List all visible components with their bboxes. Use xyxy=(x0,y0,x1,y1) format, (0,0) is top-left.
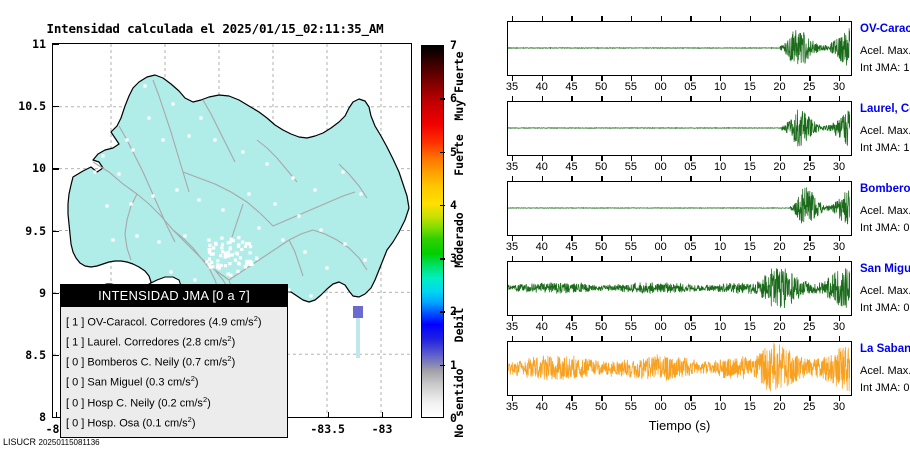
legend-station-row: [ 0 ] Hosp C. Neily (0.2 cm/s2) xyxy=(66,392,287,412)
map-y-tick-label: 10 xyxy=(2,161,46,175)
trace-tick-label: 20 xyxy=(769,81,791,93)
trace-tick-label: 00 xyxy=(650,321,672,333)
map-x-tick-mark xyxy=(328,412,329,418)
trace-station-name: La Sabana xyxy=(860,343,910,355)
trace-tick-label: 15 xyxy=(739,161,761,173)
trace-jma-intensity: Int JMA: 1 xyxy=(860,62,910,74)
map-x-tick-mark xyxy=(56,412,57,418)
colorbar-category-label: Moderado xyxy=(452,212,466,267)
page-title: Intensidad calculada el 2025/01/15_02:11… xyxy=(0,21,430,36)
colorbar-tick-mark xyxy=(440,205,445,206)
trace-tick-label: 40 xyxy=(531,321,553,333)
trace-tick-label: 40 xyxy=(531,401,553,413)
trace-jma-intensity: Int JMA: 0 xyxy=(860,222,910,234)
trace-station-name: San Miguel xyxy=(860,263,910,275)
trace-tick-label: 35 xyxy=(501,161,523,173)
footer-timestamp: 20250115081136 xyxy=(39,438,100,447)
waveform-graphic xyxy=(508,102,850,154)
trace-tick-label-row: 354045505500051015202530 xyxy=(507,241,852,254)
seismogram-trace-block: 354045505500051015202530Laurel, Corredor… xyxy=(470,101,910,179)
trace-tick-label: 45 xyxy=(560,241,582,253)
legend-paren-close: ) xyxy=(258,317,262,329)
trace-tick-label: 25 xyxy=(798,161,820,173)
trace-tick-label: 25 xyxy=(798,241,820,253)
trace-tick-label: 00 xyxy=(650,161,672,173)
waveform-graphic xyxy=(508,182,850,234)
trace-tick-label: 20 xyxy=(769,241,791,253)
legend-intensity-bracket: [ 1 ] xyxy=(66,337,87,349)
seismogram-plot-frame xyxy=(507,261,852,316)
trace-tick-label: 20 xyxy=(769,161,791,173)
seismogram-panel: Tiempo (s) 354045505500051015202530OV-Ca… xyxy=(470,0,910,460)
legend-paren-close: ) xyxy=(207,397,211,409)
trace-tick-label: 40 xyxy=(531,241,553,253)
map-x-tick-mark xyxy=(382,412,383,418)
trace-tick-label: 55 xyxy=(620,321,642,333)
colorbar-category-label: Muy Fuerte xyxy=(452,51,466,120)
map-y-tick-label: 11 xyxy=(2,37,46,51)
map-y-tick-label: 9 xyxy=(2,286,46,300)
trace-tick-label: 10 xyxy=(709,241,731,253)
waveform-graphic xyxy=(508,342,850,394)
trace-tick-label: 45 xyxy=(560,321,582,333)
time-axis-label: Tiempo (s) xyxy=(507,418,852,433)
trace-tick-label: 35 xyxy=(501,81,523,93)
seismogram-trace-block: 354045505500051015202530Bomberos C. Neil… xyxy=(470,181,910,259)
waveform-graphic xyxy=(508,22,850,74)
legend-station-name: Hosp C. Neily (0.2 cm/s xyxy=(87,397,203,409)
colorbar-tick-label: 4 xyxy=(450,198,466,212)
trace-peak-acceleration: Acel. Max. 0.9 xyxy=(860,125,910,137)
trace-tick-label-row: 354045505500051015202530 xyxy=(507,161,852,174)
colorbar-tick-mark xyxy=(440,311,445,312)
colorbar-category-label: No sentido xyxy=(452,368,466,437)
seismogram-plot-frame xyxy=(507,101,852,156)
map-y-tick-mark xyxy=(53,106,59,107)
legend-intensity-bracket: [ 0 ] xyxy=(66,417,87,429)
trace-tick-label: 25 xyxy=(798,81,820,93)
colorbar-tick-mark xyxy=(440,258,445,259)
trace-tick-label: 10 xyxy=(709,321,731,333)
colorbar-category-label: Fuerte xyxy=(452,134,466,176)
colorbar-category-label: Debil xyxy=(452,308,466,343)
trace-jma-intensity: Int JMA: 1 xyxy=(860,142,910,154)
map-y-tick-mark xyxy=(53,355,59,356)
seismogram-trace-block: 354045505500051015202530OV-Caracol, Corr… xyxy=(470,21,910,99)
trace-tick-label: 20 xyxy=(769,321,791,333)
trace-peak-acceleration: Acel. Max. 0.9 xyxy=(860,45,910,57)
map-y-tick-mark xyxy=(53,231,59,232)
trace-tick-label: 55 xyxy=(620,241,642,253)
trace-peak-acceleration: Acel. Max. 0.0 xyxy=(860,365,910,377)
trace-tick-label: 05 xyxy=(679,241,701,253)
trace-tick-label: 35 xyxy=(501,321,523,333)
colorbar-gradient xyxy=(421,45,444,418)
legend-station-row: [ 0 ] Hosp. Osa (0.1 cm/s2) xyxy=(66,412,287,432)
seismogram-plot-frame xyxy=(507,341,852,396)
map-x-tick-label: -83 xyxy=(352,422,412,436)
trace-tick-label: 55 xyxy=(620,81,642,93)
colorbar-tick-mark xyxy=(440,365,445,366)
trace-tick-label: 10 xyxy=(709,401,731,413)
map-y-tick-mark xyxy=(53,168,59,169)
trace-peak-acceleration: Acel. Max. 0.0 xyxy=(860,285,910,297)
trace-tick-label: 10 xyxy=(709,81,731,93)
trace-tick-label: 30 xyxy=(828,161,850,173)
trace-tick-label: 05 xyxy=(679,401,701,413)
trace-tick-label: 55 xyxy=(620,161,642,173)
legend-paren-close: ) xyxy=(232,357,236,369)
trace-tick-label-row: 354045505500051015202530 xyxy=(507,401,852,414)
trace-tick-label: 45 xyxy=(560,81,582,93)
trace-tick-label: 00 xyxy=(650,401,672,413)
trace-tick-label: 05 xyxy=(679,321,701,333)
trace-tick-label: 15 xyxy=(739,241,761,253)
seismogram-plot-frame xyxy=(507,181,852,236)
map-y-tick-mark xyxy=(53,293,59,294)
trace-tick-label-row: 354045505500051015202530 xyxy=(507,321,852,334)
intensity-map-panel: Intensidad calculada el 2025/01/15_02:11… xyxy=(0,0,470,460)
legend-intensity-bracket: [ 1 ] xyxy=(66,317,87,329)
trace-tick-label: 00 xyxy=(650,81,672,93)
trace-tick-label: 35 xyxy=(501,401,523,413)
trace-tick-label: 55 xyxy=(620,401,642,413)
legend-station-row: [ 1 ] Laurel. Corredores (2.8 cm/s2) xyxy=(66,331,287,351)
intensity-legend: INTENSIDAD JMA [0 a 7] [ 1 ] OV-Caracol.… xyxy=(60,284,288,438)
trace-tick-label: 30 xyxy=(828,241,850,253)
map-y-tick-label: 8.5 xyxy=(2,348,46,362)
trace-tick-label: 50 xyxy=(590,401,612,413)
trace-tick-label: 15 xyxy=(739,401,761,413)
legend-station-name: Bomberos C. Neily (0.7 cm/s xyxy=(87,357,227,369)
trace-tick-label: 15 xyxy=(739,321,761,333)
legend-intensity-bracket: [ 0 ] xyxy=(66,397,87,409)
trace-tick-label: 50 xyxy=(590,321,612,333)
trace-jma-intensity: Int JMA: 0 xyxy=(860,302,910,314)
legend-paren-close: ) xyxy=(192,417,196,429)
trace-tick-label: 40 xyxy=(531,81,553,93)
trace-tick-label: 30 xyxy=(828,321,850,333)
legend-station-name: San Miguel (0.3 cm/s xyxy=(87,377,190,389)
trace-tick-label-row: 354045505500051015202530 xyxy=(507,81,852,94)
trace-tick-label: 25 xyxy=(798,401,820,413)
trace-station-name: Bomberos C. Neily xyxy=(860,183,910,195)
trace-tick-label: 00 xyxy=(650,241,672,253)
legend-intensity-bracket: [ 0 ] xyxy=(66,377,87,389)
map-y-tick-mark xyxy=(53,44,59,45)
trace-tick-label: 05 xyxy=(679,81,701,93)
legend-station-row: [ 0 ] Bomberos C. Neily (0.7 cm/s2) xyxy=(66,351,287,371)
seismogram-trace-block: 354045505500051015202530La SabanaAcel. M… xyxy=(470,341,910,419)
trace-tick-label: 20 xyxy=(769,401,791,413)
trace-tick-label: 50 xyxy=(590,161,612,173)
trace-tick-label: 50 xyxy=(590,81,612,93)
trace-tick-label: 50 xyxy=(590,241,612,253)
legend-intensity-bracket: [ 0 ] xyxy=(66,357,87,369)
trace-tick-label: 30 xyxy=(828,81,850,93)
trace-jma-intensity: Int JMA: 0 xyxy=(860,382,910,394)
colorbar-tick-label: 7 xyxy=(450,38,466,52)
map-intensity-patch xyxy=(353,306,363,358)
legend-station-row: [ 0 ] San Miguel (0.3 cm/s2) xyxy=(66,371,287,391)
trace-tick-label: 15 xyxy=(739,81,761,93)
seismogram-plot-frame xyxy=(507,21,852,76)
trace-peak-acceleration: Acel. Max. 0.0 xyxy=(860,205,910,217)
trace-tick-label: 10 xyxy=(709,161,731,173)
map-x-tick-label: -83.5 xyxy=(298,422,358,436)
trace-tick-label: 35 xyxy=(501,241,523,253)
legend-station-name: Hosp. Osa (0.1 cm/s xyxy=(87,417,187,429)
legend-station-name: OV-Caracol. Corredores (4.9 cm/s xyxy=(87,317,253,329)
waveform-graphic xyxy=(508,262,850,314)
footer-agency: LISUCR xyxy=(3,437,36,447)
colorbar-tick-mark xyxy=(440,152,445,153)
legend-title: INTENSIDAD JMA [0 a 7] xyxy=(61,285,287,307)
legend-station-list: [ 1 ] OV-Caracol. Corredores (4.9 cm/s2)… xyxy=(61,307,287,437)
footer-credit: LISUCR 20250115081136 xyxy=(3,437,100,447)
legend-station-row: [ 1 ] OV-Caracol. Corredores (4.9 cm/s2) xyxy=(66,311,287,331)
trace-station-name: Laurel, Corredores xyxy=(860,103,910,115)
intensity-colorbar xyxy=(421,45,444,418)
legend-station-name: Laurel. Corredores (2.8 cm/s xyxy=(87,337,227,349)
map-y-tick-label: 10.5 xyxy=(2,99,46,113)
colorbar-tick-mark xyxy=(440,98,445,99)
trace-station-name: OV-Caracol, Corredores xyxy=(860,23,910,35)
trace-tick-label: 45 xyxy=(560,161,582,173)
legend-paren-close: ) xyxy=(232,337,236,349)
map-y-tick-label: 9.5 xyxy=(2,224,46,238)
legend-paren-close: ) xyxy=(195,377,199,389)
trace-tick-label: 30 xyxy=(828,401,850,413)
seismogram-trace-block: 354045505500051015202530San MiguelAcel. … xyxy=(470,261,910,339)
trace-tick-label: 05 xyxy=(679,161,701,173)
trace-tick-label: 40 xyxy=(531,161,553,173)
trace-tick-label: 25 xyxy=(798,321,820,333)
trace-tick-label: 45 xyxy=(560,401,582,413)
